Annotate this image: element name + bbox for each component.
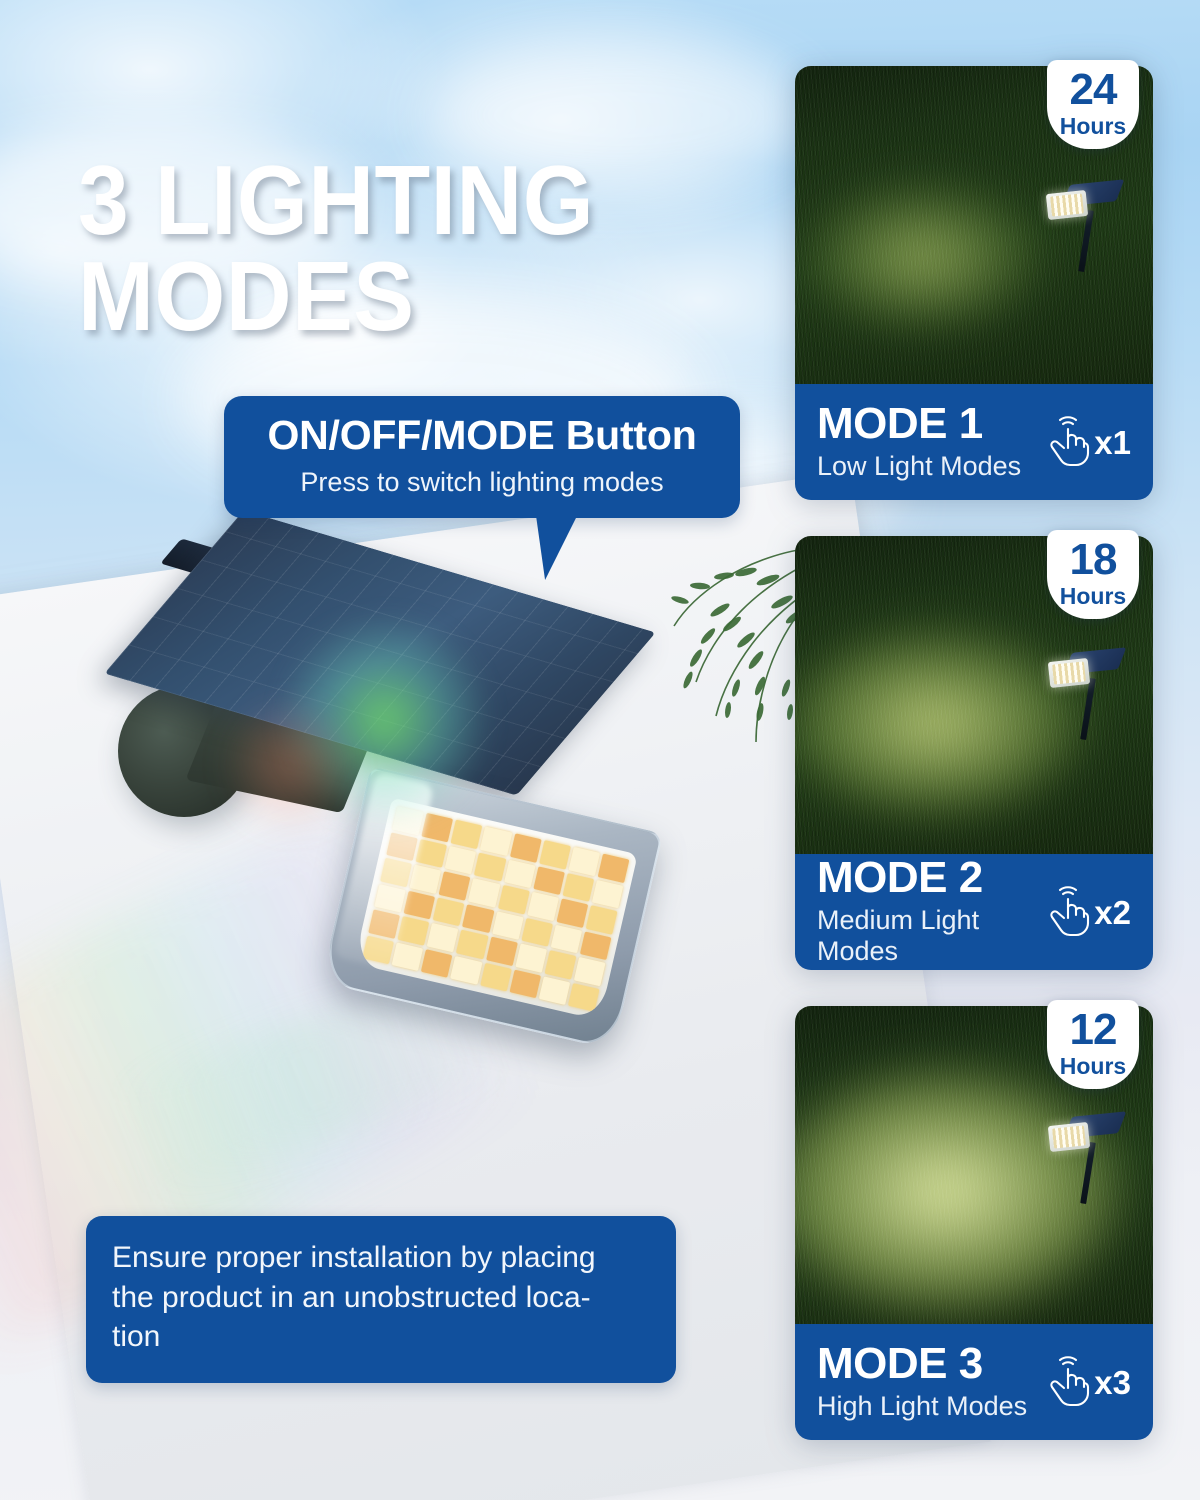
hours-label: Hours: [1047, 114, 1139, 139]
hours-badge: 18 Hours: [1047, 530, 1139, 619]
hours-label: Hours: [1047, 584, 1139, 609]
light-pool: [803, 182, 1043, 332]
page-title: 3 LIGHTING MODES: [78, 152, 729, 344]
tap-gesture-icon: [1044, 415, 1090, 469]
solar-light-product-image: [110, 545, 750, 1065]
installation-note-text: Ensure proper installation by placing th…: [112, 1238, 650, 1357]
callout-title: ON/OFF/MODE Button: [244, 414, 720, 457]
ground-stake: [1080, 1142, 1096, 1204]
mode-title: MODE 3: [817, 1342, 1027, 1387]
hours-label: Hours: [1047, 1054, 1139, 1079]
mode-card[interactable]: MODE 3 High Light Modes: [795, 1006, 1153, 1440]
headline-line-1: 3 LIGHTING: [78, 145, 594, 255]
tap-gesture-icon: [1044, 1355, 1090, 1409]
press-count-group: x1: [1044, 415, 1135, 469]
press-count: x3: [1094, 1366, 1131, 1399]
infographic-poster: 3 LIGHTING MODES: [0, 0, 1200, 1500]
tap-gesture-icon: [1044, 885, 1090, 939]
mode-card-labels: MODE 3 High Light Modes: [817, 1342, 1027, 1423]
mode-card-bar: MODE 3 High Light Modes: [795, 1324, 1153, 1440]
mode-subtitle: High Light Modes: [817, 1391, 1027, 1423]
mode-title: MODE 2: [817, 856, 1044, 901]
press-count: x1: [1094, 426, 1131, 459]
mode-title: MODE 1: [817, 402, 1021, 447]
headline-line-2: MODES: [78, 248, 729, 344]
spotlight-fixture: [1047, 1110, 1123, 1206]
hours-value: 24: [1047, 68, 1139, 112]
hours-value: 18: [1047, 538, 1139, 582]
fixture-led-head: [1048, 1122, 1090, 1152]
ground-stake: [1078, 210, 1094, 272]
ground-stake: [1080, 678, 1096, 740]
spotlight-fixture: [1047, 646, 1123, 742]
mode-card[interactable]: MODE 2 Medium Light Modes: [795, 536, 1153, 970]
mode-subtitle: Low Light Modes: [817, 451, 1021, 483]
press-count-group: x2: [1044, 885, 1135, 939]
onoff-mode-callout: ON/OFF/MODE Button Press to switch light…: [224, 396, 740, 518]
fixture-led-head: [1046, 190, 1088, 220]
mode-card-labels: MODE 2 Medium Light Modes: [817, 856, 1044, 969]
light-pool: [795, 628, 1085, 818]
spotlight-fixture: [1045, 178, 1121, 274]
fixture-led-head: [1048, 658, 1090, 688]
installation-note: Ensure proper installation by placing th…: [86, 1216, 676, 1383]
mode-card-list: MODE 1 Low Light Modes: [795, 66, 1153, 1476]
mode-card-bar: MODE 1 Low Light Modes: [795, 384, 1153, 500]
mode-card-bar: MODE 2 Medium Light Modes: [795, 854, 1153, 970]
mode-subtitle: Medium Light Modes: [817, 905, 1044, 969]
hours-badge: 24 Hours: [1047, 60, 1139, 149]
press-count: x2: [1094, 896, 1131, 929]
hours-value: 12: [1047, 1008, 1139, 1052]
mode-card[interactable]: MODE 1 Low Light Modes: [795, 66, 1153, 500]
hours-badge: 12 Hours: [1047, 1000, 1139, 1089]
press-count-group: x3: [1044, 1355, 1135, 1409]
led-head: [321, 766, 663, 1050]
callout-subtitle: Press to switch lighting modes: [244, 466, 720, 498]
mode-card-labels: MODE 1 Low Light Modes: [817, 402, 1021, 483]
